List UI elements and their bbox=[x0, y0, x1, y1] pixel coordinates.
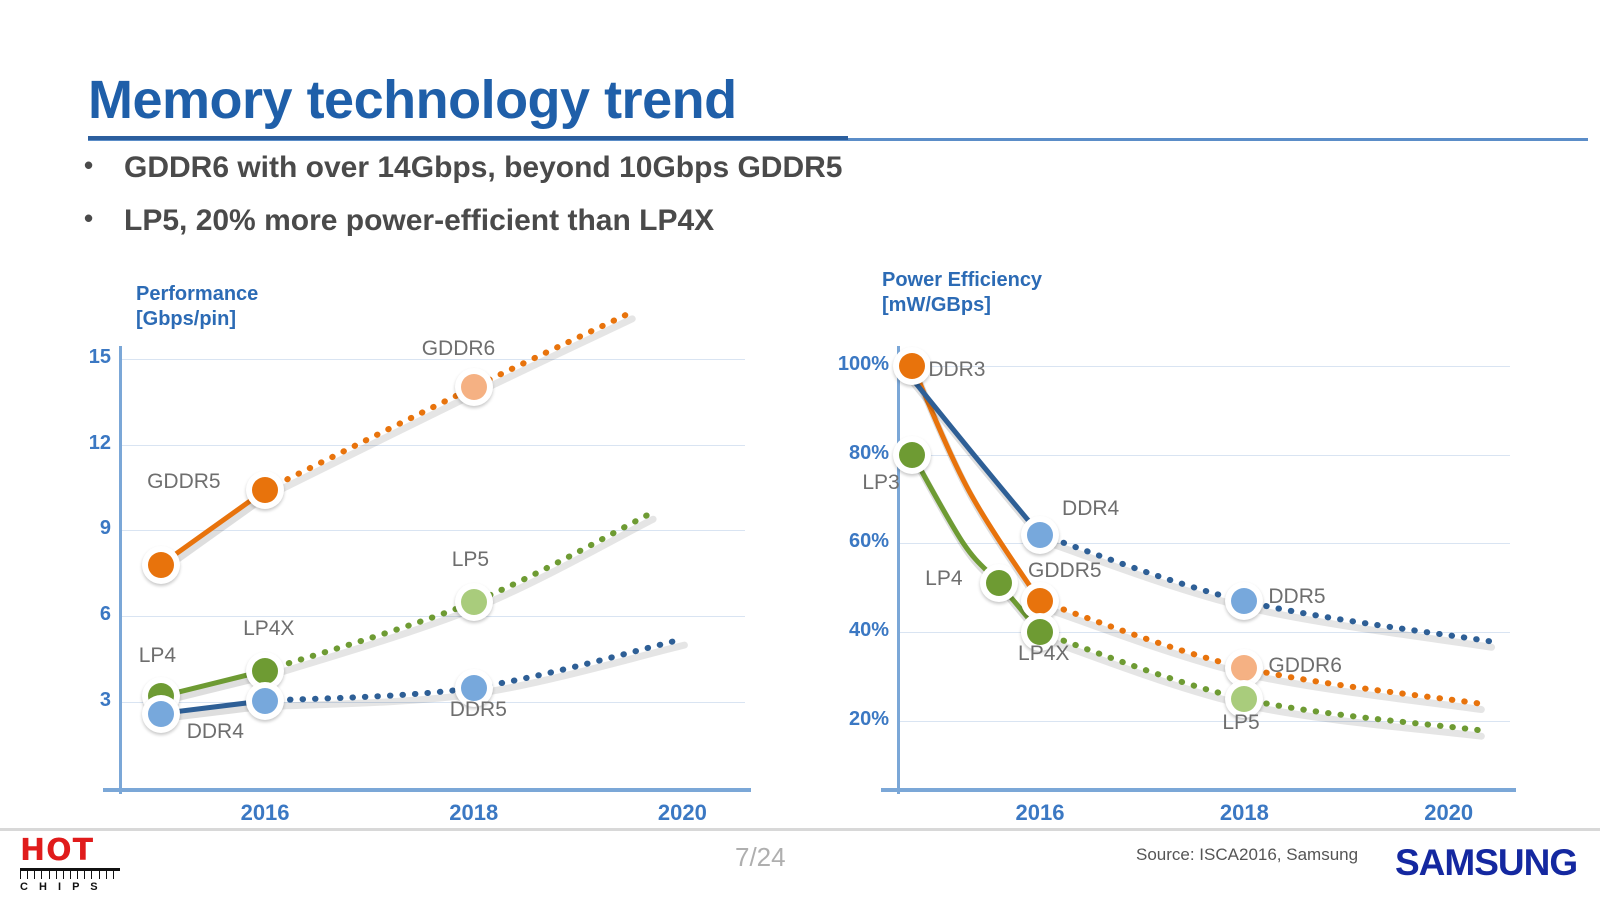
samsung-logo: SAMSUNG bbox=[1395, 842, 1577, 884]
hot-chips-logo: HOT C H I P S bbox=[20, 836, 130, 890]
series-annotation-label: GDDR6 bbox=[1268, 654, 1342, 678]
slide-root: Memory technology trend • GDDR6 with ove… bbox=[0, 0, 1600, 900]
series-line-dotted bbox=[1040, 535, 1490, 642]
source-note: Source: ISCA2016, Samsung bbox=[1136, 845, 1358, 865]
series-annotation-label: LP3 bbox=[862, 471, 899, 495]
series-annotation-label: GDDR5 bbox=[1028, 559, 1102, 583]
footer-divider bbox=[0, 828, 1600, 831]
power-efficiency-chart: Power Efficiency [mW/GBps]20%40%60%80%10… bbox=[0, 0, 1600, 830]
series-annotation-label: LP5 bbox=[1222, 711, 1259, 735]
data-point-dot bbox=[1027, 522, 1053, 548]
hot-chips-subtext: C H I P S bbox=[20, 881, 130, 893]
series-annotation-label: DDR5 bbox=[1268, 585, 1325, 609]
series-annotation-label: LP4X bbox=[1018, 642, 1069, 666]
data-point-dot bbox=[899, 442, 925, 468]
plot-lines bbox=[0, 0, 1600, 830]
hot-chips-wordmark: HOT bbox=[20, 836, 130, 866]
hot-chips-teeth-icon bbox=[20, 871, 120, 879]
page-number: 7/24 bbox=[735, 842, 786, 873]
series-annotation-label: LP4 bbox=[925, 567, 962, 591]
data-point-dot bbox=[899, 353, 925, 379]
series-annotation-label: DDR4 bbox=[1062, 497, 1119, 521]
series-annotation-label: DDR3 bbox=[928, 358, 985, 382]
